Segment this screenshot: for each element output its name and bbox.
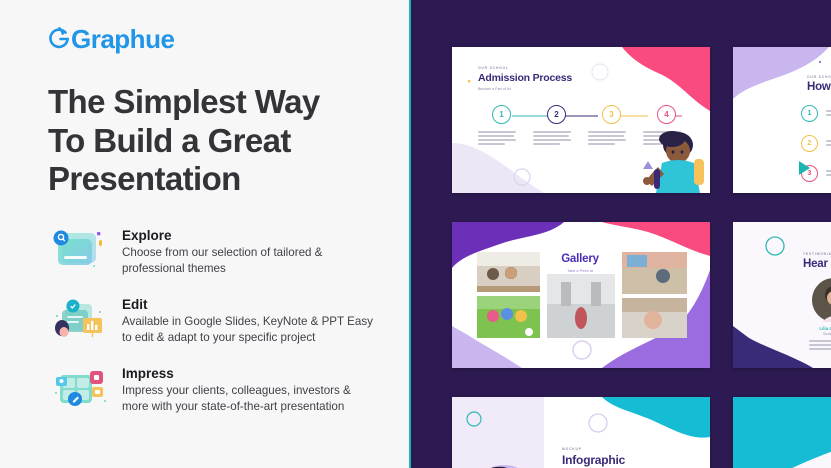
slide-header: TESTIMONIALS Hear From Our bbox=[803, 252, 831, 270]
slide-decor bbox=[733, 397, 831, 468]
feature-item-edit[interactable]: Edit Available in Google Slides, KeyNote… bbox=[48, 294, 379, 347]
feature-title: Edit bbox=[122, 297, 379, 312]
slide-thumbnail-admission-process[interactable]: OUR SCHOOL Admission Process Become a Pa… bbox=[452, 47, 710, 193]
presentation-template-screenshot: Graphue The Simplest Way To Build a Grea… bbox=[0, 0, 831, 468]
feature-description: Choose from our selection of tailored & … bbox=[122, 245, 379, 278]
feature-title: Explore bbox=[122, 228, 379, 243]
search-card-icon bbox=[48, 225, 110, 275]
feature-description: Impress your clients, colleagues, invest… bbox=[122, 383, 379, 416]
apply-step-row-2: 2 bbox=[801, 135, 831, 152]
slide-header: MOCKUP Infographic bbox=[562, 447, 662, 468]
feature-text-edit: Edit Available in Google Slides, KeyNote… bbox=[122, 294, 379, 347]
step-body-2 bbox=[533, 131, 571, 147]
slide-gallery-panel: OUR SCHOOL Admission Process Become a Pa… bbox=[411, 0, 831, 468]
gallery-photo-grid bbox=[477, 252, 687, 342]
step-circle-3: 3 bbox=[602, 105, 621, 124]
step-circle-1: 1 bbox=[492, 105, 511, 124]
step-body-2 bbox=[826, 140, 831, 148]
step-circle-4: 4 bbox=[657, 105, 676, 124]
headline-line-3: Presentation bbox=[48, 160, 241, 197]
step-circle-1: 1 bbox=[801, 105, 818, 122]
step-body-1 bbox=[478, 131, 516, 147]
character-illustration bbox=[460, 463, 552, 468]
slide-eyebrow: TESTIMONIALS bbox=[803, 252, 831, 256]
impress-grid-icon bbox=[48, 363, 110, 413]
headline-line-1: The Simplest Way bbox=[48, 83, 320, 120]
brand-logo-text: Graphue bbox=[71, 26, 174, 52]
slide-title: Admission Process bbox=[478, 72, 572, 84]
slide-subtitle: Become a Part of Us bbox=[478, 87, 572, 91]
feature-text-explore: Explore Choose from our selection of tai… bbox=[122, 225, 379, 278]
slide-thumbnail-infographic[interactable]: MOCKUP Infographic bbox=[452, 397, 710, 468]
feature-title: Impress bbox=[122, 366, 379, 381]
feature-list: Explore Choose from our selection of tai… bbox=[48, 225, 379, 416]
feature-item-explore[interactable]: Explore Choose from our selection of tai… bbox=[48, 225, 379, 278]
play-icon[interactable] bbox=[799, 161, 810, 175]
slide-title: How to Apply? bbox=[807, 81, 831, 93]
slide-thumbnail-gallery[interactable]: Gallery Take a Peek at What We're Doing bbox=[452, 222, 710, 368]
step-circle-row: 1 2 3 4 bbox=[492, 105, 676, 124]
step-body-1 bbox=[826, 110, 831, 118]
apply-step-row-1: 1 bbox=[801, 105, 831, 122]
person-name: Lilia Crawford bbox=[803, 326, 831, 331]
slide-thumbnail-testimonials[interactable]: TESTIMONIALS Hear From Our Lilia Crawfor… bbox=[733, 222, 831, 368]
avatar bbox=[812, 278, 831, 322]
person-role: Student, Age 9 bbox=[803, 332, 831, 336]
slide-eyebrow: OUR SCHOOL bbox=[478, 66, 572, 70]
feature-item-impress[interactable]: Impress Impress your clients, colleagues… bbox=[48, 363, 379, 416]
slide-eyebrow: MOCKUP bbox=[562, 447, 662, 451]
edit-chart-icon bbox=[48, 294, 110, 344]
slide-thumbnail-how-to-apply[interactable]: OUR SCHOOL How to Apply? 1 2 3 bbox=[733, 47, 831, 193]
slide-title: Infographic bbox=[562, 453, 662, 467]
page-title: The Simplest Way To Build a Great Presen… bbox=[48, 83, 379, 199]
slide-thumbnail-contact-us[interactable]: Contact Us Today bbox=[733, 397, 831, 468]
slide-title: Hear From Our bbox=[803, 258, 831, 270]
left-info-panel: Graphue The Simplest Way To Build a Grea… bbox=[0, 0, 409, 468]
step-body-3 bbox=[826, 170, 831, 178]
step-body-3 bbox=[588, 131, 626, 147]
headline-line-2: To Build a Great bbox=[48, 122, 291, 159]
quote-body bbox=[803, 340, 831, 350]
graphue-g-icon bbox=[48, 27, 70, 51]
feature-text-impress: Impress Impress your clients, colleagues… bbox=[122, 363, 379, 416]
testimonial-card-1: Lilia Crawford Student, Age 9 bbox=[803, 278, 831, 352]
slide-header: OUR SCHOOL Admission Process Become a Pa… bbox=[478, 66, 572, 91]
slide-eyebrow: OUR SCHOOL bbox=[807, 75, 831, 79]
step-circle-2: 2 bbox=[801, 135, 818, 152]
step-circle-2: 2 bbox=[547, 105, 566, 124]
feature-description: Available in Google Slides, KeyNote & PP… bbox=[122, 314, 379, 347]
slide-header: OUR SCHOOL How to Apply? bbox=[807, 75, 831, 93]
brand-logo[interactable]: Graphue bbox=[48, 26, 379, 52]
student-illustration bbox=[624, 129, 710, 193]
